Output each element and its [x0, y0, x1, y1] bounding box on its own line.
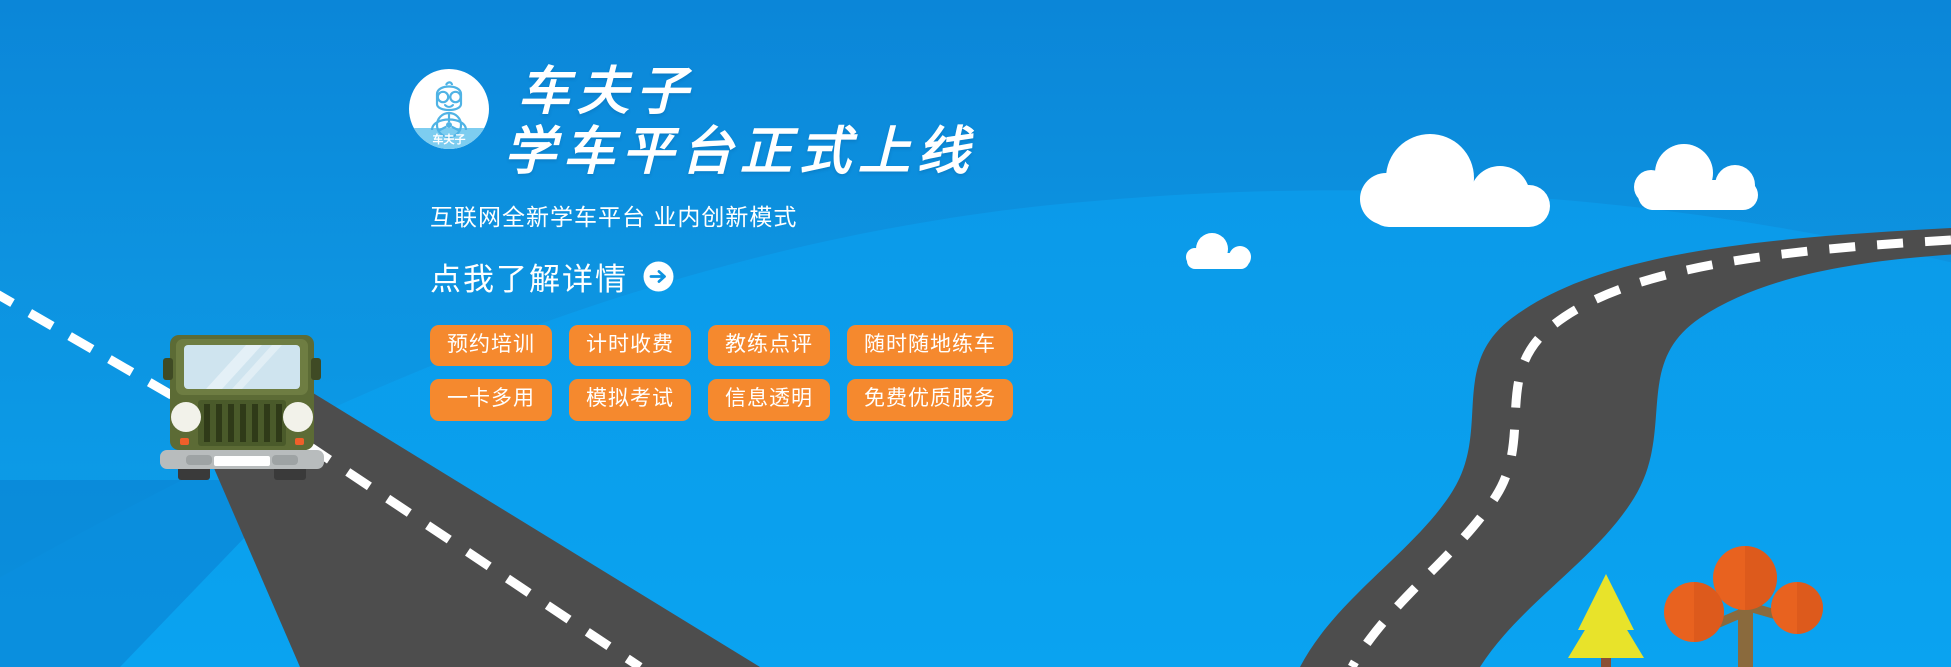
- headline-block: 车夫子 学车平台正式上线: [518, 62, 976, 180]
- logo-svg: 车夫子: [408, 68, 490, 150]
- feature-tag-row-1: 预约培训 计时收费 教练点评 随时随地练车: [430, 325, 1188, 366]
- headline-line-1: 车夫子: [518, 64, 976, 120]
- feature-tag[interactable]: 信息透明: [708, 379, 830, 420]
- feature-tags: 预约培训 计时收费 教练点评 随时随地练车 一卡多用 模拟考试 信息透明 免费优…: [430, 325, 1188, 420]
- feature-tag[interactable]: 一卡多用: [430, 379, 552, 420]
- promo-banner: 车夫子 车夫子 学车平台正式上线 互联网全新学车平台 业内创新模式 点我了解详情…: [0, 0, 1951, 667]
- feature-tag[interactable]: 教练点评: [708, 325, 830, 366]
- logo-wheel-hub: [446, 122, 452, 128]
- arrow-right-circle-icon[interactable]: [642, 260, 675, 293]
- feature-tag[interactable]: 预约培训: [430, 325, 552, 366]
- jeep-illustration: [160, 335, 324, 480]
- logo-caption: 车夫子: [433, 132, 466, 146]
- feature-tag[interactable]: 模拟考试: [569, 379, 691, 420]
- cta-link[interactable]: 点我了解详情: [430, 254, 675, 299]
- feature-tag-row-2: 一卡多用 模拟考试 信息透明 免费优质服务: [430, 379, 1188, 420]
- headline-line-2: 学车平台正式上线: [504, 124, 976, 180]
- brand-row: 车夫子 车夫子 学车平台正式上线: [408, 62, 1188, 180]
- chefuzi-logo[interactable]: 车夫子: [408, 68, 490, 150]
- feature-tag[interactable]: 免费优质服务: [847, 379, 1013, 420]
- cta-label: 点我了解详情: [430, 254, 628, 299]
- feature-tag[interactable]: 随时随地练车: [847, 325, 1013, 366]
- feature-tag[interactable]: 计时收费: [569, 325, 691, 366]
- banner-content: 车夫子 车夫子 学车平台正式上线 互联网全新学车平台 业内创新模式 点我了解详情…: [408, 62, 1188, 421]
- subtitle: 互联网全新学车平台 业内创新模式: [430, 198, 1188, 232]
